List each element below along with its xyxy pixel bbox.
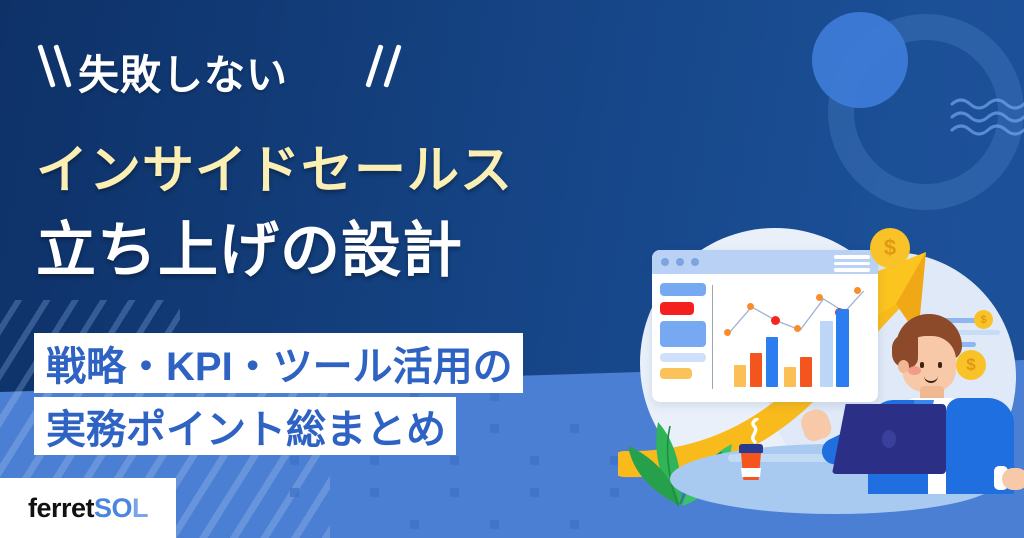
line-point-2 xyxy=(747,303,754,310)
window-menu-lines-icon xyxy=(834,255,870,272)
laptop-icon xyxy=(824,404,954,480)
hero-illustration: $ $ $ xyxy=(618,222,1024,512)
logo-product-a: SO xyxy=(94,493,132,523)
coffee-cup-icon xyxy=(738,444,764,484)
person-eye-left xyxy=(920,362,924,368)
person-eye-right xyxy=(938,362,942,368)
cup-lid xyxy=(739,444,763,453)
line-point-5 xyxy=(816,294,823,301)
line-point-4 xyxy=(794,325,801,332)
slash-right-1 xyxy=(365,44,383,87)
window-dot-2 xyxy=(676,258,684,266)
logo-brand: ferret xyxy=(28,493,94,523)
slash-right-2 xyxy=(383,44,401,87)
window-sidebar xyxy=(660,283,712,393)
sidebar-block-5 xyxy=(660,368,692,379)
slash-left-1 xyxy=(37,44,55,87)
line-point-3 xyxy=(771,316,780,325)
dashboard-window xyxy=(652,250,878,402)
logo-text: ferretSOL xyxy=(28,493,148,524)
coin-large-symbol: $ xyxy=(884,235,896,261)
logo-plate[interactable]: ferretSOL xyxy=(0,478,176,538)
subheadline-bar-2: 実務ポイント総まとめ xyxy=(34,397,456,455)
banner-canvas: 失敗しない インサイドセールス 立ち上げの設計 戦略・KPI・ツール活用の 実務… xyxy=(0,0,1024,538)
window-divider xyxy=(712,285,713,389)
logo-product: SOL xyxy=(94,493,148,523)
circle-decoration xyxy=(812,12,908,108)
window-body xyxy=(652,274,878,402)
bar-2 xyxy=(750,353,762,387)
window-chart-area xyxy=(722,283,870,393)
sidebar-block-4 xyxy=(660,353,706,362)
window-dot-1 xyxy=(661,258,669,266)
person-hand xyxy=(1002,468,1024,490)
sidebar-block-3 xyxy=(660,321,706,347)
kicker-text: 失敗しない xyxy=(78,41,288,101)
steam-icon xyxy=(746,418,764,444)
line-point-7 xyxy=(854,287,861,294)
sidebar-block-1 xyxy=(660,283,706,296)
headline-gold: インサイドセールス xyxy=(36,128,513,203)
line-point-1 xyxy=(724,329,731,336)
subheadline-bar-1: 戦略・KPI・ツール活用の xyxy=(34,333,523,393)
bar-3 xyxy=(766,337,778,387)
bar-5 xyxy=(800,357,812,387)
bar-6 xyxy=(820,321,833,387)
bar-1 xyxy=(734,365,746,387)
logo-product-b: L xyxy=(132,493,148,523)
window-dot-3 xyxy=(691,258,699,266)
bar-4 xyxy=(784,367,796,387)
wave-lines-decoration xyxy=(950,96,1024,138)
cup-sleeve xyxy=(741,468,761,477)
laptop-logo xyxy=(882,430,896,448)
coin-large-icon: $ xyxy=(870,228,910,268)
sidebar-block-2 xyxy=(660,302,694,315)
bar-7 xyxy=(836,309,849,387)
window-title-bar xyxy=(652,250,878,274)
slash-left-2 xyxy=(53,44,71,87)
person-cheek xyxy=(908,366,921,375)
headline-white: 立ち上げの設計 xyxy=(36,202,463,289)
